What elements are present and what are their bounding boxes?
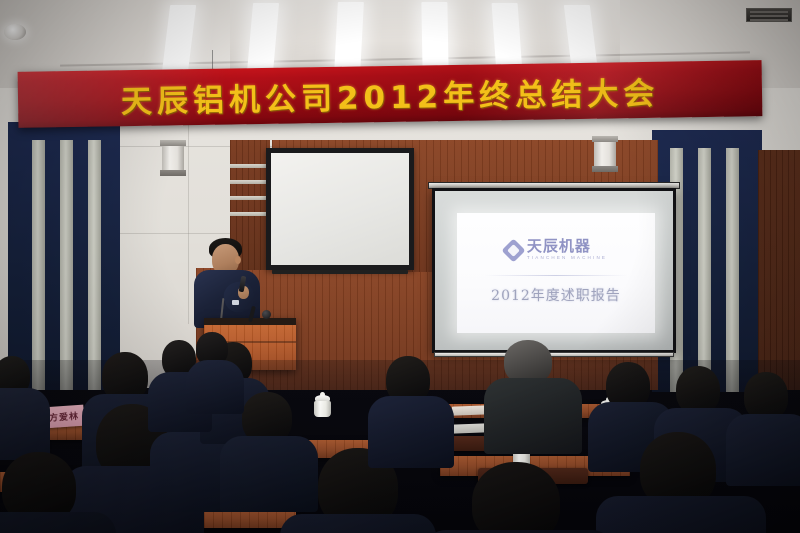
wood-decor-stripe-2 bbox=[230, 180, 270, 184]
podium-microphone-head-icon bbox=[262, 310, 271, 319]
slide-title: 2012年度述职报告 bbox=[457, 285, 655, 305]
pillar-stripe-left-3 bbox=[88, 140, 101, 390]
whiteboard bbox=[266, 148, 414, 270]
audience-member-15-body bbox=[220, 436, 318, 512]
audience-member-13-head bbox=[472, 462, 560, 533]
tea-cup-5 bbox=[314, 395, 331, 417]
audience-member-14-body bbox=[0, 512, 116, 533]
speaker-presenter bbox=[188, 238, 272, 328]
wood-decor-stripe-3 bbox=[230, 196, 270, 200]
whiteboard-marker-tray bbox=[272, 270, 408, 274]
wall-lamp-right-foot bbox=[592, 166, 618, 172]
projection-screen: 天辰机器 TIANCHEN MACHINE 2012年度述职报告 bbox=[432, 188, 676, 353]
company-logo: 天辰机器 TIANCHEN MACHINE bbox=[457, 237, 655, 263]
wall-lamp-left-foot bbox=[160, 170, 186, 176]
pillar-stripe-left-2 bbox=[60, 140, 73, 390]
ceiling-spotlight-icon bbox=[4, 24, 26, 40]
wall-lamp-left-tube bbox=[162, 146, 184, 170]
audience-member-11-body bbox=[726, 414, 800, 486]
slide-divider-rule bbox=[485, 275, 627, 276]
wall-lamp-left bbox=[160, 140, 186, 176]
audience-member-12-body bbox=[596, 496, 766, 533]
logo-text-block: 天辰机器 TIANCHEN MACHINE bbox=[527, 239, 607, 261]
ceiling-light-panel-3 bbox=[334, 2, 364, 74]
wall-pillar-left bbox=[8, 122, 120, 390]
banner-text: 天辰铝机公司2012年终总结大会 bbox=[121, 67, 660, 120]
pillar-stripe-left-1 bbox=[32, 140, 45, 390]
wood-decor-stripe-1 bbox=[230, 164, 270, 168]
document-sheet-3 bbox=[452, 405, 488, 415]
wall-lamp-right bbox=[592, 136, 618, 172]
ceiling-light-panel-5 bbox=[492, 3, 523, 73]
logo-chinese-name: 天辰机器 bbox=[527, 239, 607, 254]
tea-cup-5-body bbox=[314, 401, 331, 417]
audience-member-11-head bbox=[744, 372, 788, 420]
speaker-badge bbox=[232, 300, 239, 305]
pillar-stripe-right-2 bbox=[698, 148, 711, 392]
diamond-logo-icon bbox=[501, 238, 525, 262]
projection-screen-bottom-bar bbox=[434, 352, 674, 357]
audience-member-1-body bbox=[0, 388, 50, 460]
ceiling-vent-grille bbox=[746, 8, 792, 22]
speaker-ear bbox=[235, 256, 241, 264]
presentation-slide: 天辰机器 TIANCHEN MACHINE 2012年度述职报告 bbox=[457, 213, 655, 333]
logo-english-name: TIANCHEN MACHINE bbox=[527, 256, 607, 261]
audience-member-10-head bbox=[676, 366, 720, 414]
desk-nameplate-text: 方爱林 bbox=[49, 409, 80, 424]
audience-member-7-body bbox=[368, 396, 454, 468]
audience-member-5-body bbox=[280, 514, 436, 533]
audience-member-8-body bbox=[484, 378, 582, 454]
conference-room-photo: 天辰机器 TIANCHEN MACHINE 2012年度述职报告 天辰铝机公司2… bbox=[0, 0, 800, 533]
pillar-stripe-right-3 bbox=[726, 148, 739, 392]
audience-member-17-body bbox=[186, 360, 244, 414]
event-banner: 天辰铝机公司2012年终总结大会 bbox=[18, 60, 763, 128]
wood-wall-panel-right-edge bbox=[758, 150, 800, 390]
ceiling-light-panel-4 bbox=[421, 2, 448, 74]
wood-decor-stripe-4 bbox=[230, 212, 270, 216]
wall-lamp-right-tube bbox=[594, 142, 616, 166]
